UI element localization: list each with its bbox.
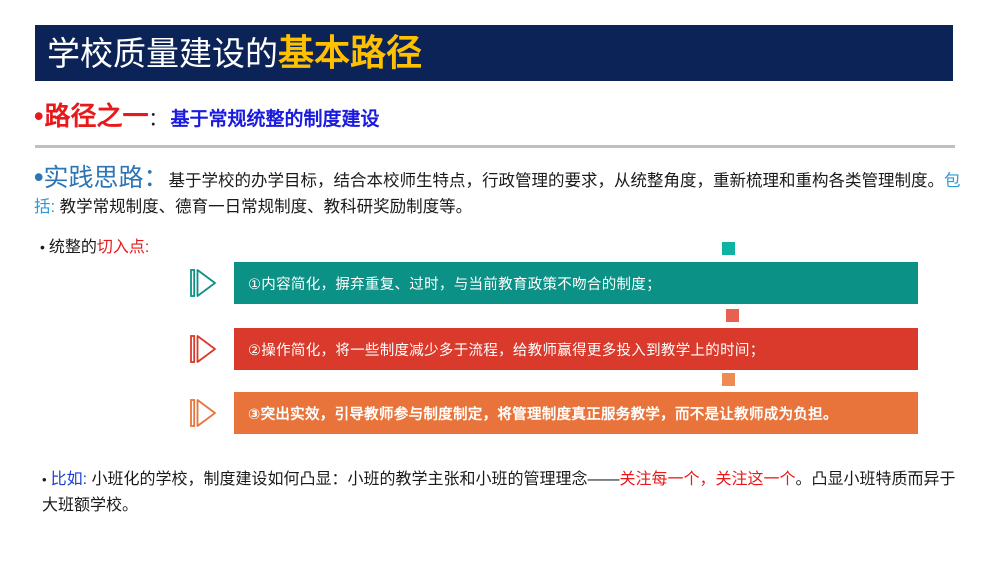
point-row-1: ①内容简化，摒弃重复、过时，与当前教育政策不吻合的制度；	[188, 262, 918, 304]
slide-root: 学校质量建设的基本路径 •路径之一：基于常规统整的制度建设 •实践思路：基于学校…	[0, 0, 1000, 562]
point-bar-1-text: ①内容简化，摒弃重复、过时，与当前教育政策不吻合的制度；	[248, 273, 661, 294]
point-row-2: ②操作简化，将一些制度减少多于流程，给教师赢得更多投入到教学上的时间；	[188, 328, 918, 370]
bar-marker-1	[722, 242, 735, 255]
entry-point-prefix: 统整的	[49, 239, 97, 256]
bar-marker-3	[722, 373, 735, 386]
example-paragraph: •比如: 小班化的学校，制度建设如何凸显：小班的教学主张和小班的管理理念——关注…	[42, 467, 962, 519]
play-arrow-icon	[188, 396, 218, 430]
example-highlight: 关注每一个，关注这一个	[619, 471, 795, 488]
slide-title-main: 学校质量建设的	[47, 37, 278, 70]
practice-title: 实践思路：	[43, 164, 168, 192]
entry-point-highlight: 切入点:	[97, 239, 149, 256]
play-arrow-icon	[188, 266, 218, 300]
path-heading: •路径之一：基于常规统整的制度建设	[34, 103, 380, 130]
point-row-3: ③突出实效，引导教师参与制度制定，将管理制度真正服务教学，而不是让教师成为负担。	[188, 392, 918, 434]
slide-title-bar: 学校质量建设的基本路径	[35, 25, 953, 81]
practice-body-first: 基于学校的办学目标，结合本校师生特点，行政管理的要求，从统整角度，重新梳理和重构…	[168, 172, 944, 190]
path-bullet-icon: •	[34, 103, 43, 130]
bar-marker-2	[726, 309, 739, 322]
path-heading-colon: ：	[148, 110, 167, 129]
example-label: 比如:	[51, 471, 87, 488]
point-bar-1: ①内容简化，摒弃重复、过时，与当前教育政策不吻合的制度；	[234, 262, 918, 304]
point-bar-2: ②操作简化，将一些制度减少多于流程，给教师赢得更多投入到教学上的时间；	[234, 328, 918, 370]
example-text-first: 小班化的学校，制度建设如何凸显：小班的教学主张和小班的管理理念——	[87, 471, 619, 488]
example-bullet-icon: •	[42, 472, 47, 487]
point-bar-3: ③突出实效，引导教师参与制度制定，将管理制度真正服务教学，而不是让教师成为负担。	[234, 392, 918, 434]
point-bar-3-text: ③突出实效，引导教师参与制度制定，将管理制度真正服务教学，而不是让教师成为负担。	[248, 403, 838, 424]
heading-divider	[35, 145, 955, 148]
entry-point-line: •统整的切入点:	[40, 240, 149, 256]
entry-point-bullet-icon: •	[40, 239, 45, 255]
practice-body-second: 教学常规制度、德育一日常规制度、教科研奖励制度等。	[55, 198, 472, 216]
practice-paragraph: •实践思路：基于学校的办学目标，结合本校师生特点，行政管理的要求，从统整角度，重…	[34, 163, 964, 220]
slide-title-accent: 基本路径	[278, 35, 422, 71]
play-arrow-icon	[188, 332, 218, 366]
path-heading-subject: 基于常规统整的制度建设	[170, 110, 379, 129]
point-bar-2-text: ②操作简化，将一些制度减少多于流程，给教师赢得更多投入到教学上的时间；	[248, 339, 765, 360]
path-heading-label: 路径之一	[44, 103, 148, 129]
